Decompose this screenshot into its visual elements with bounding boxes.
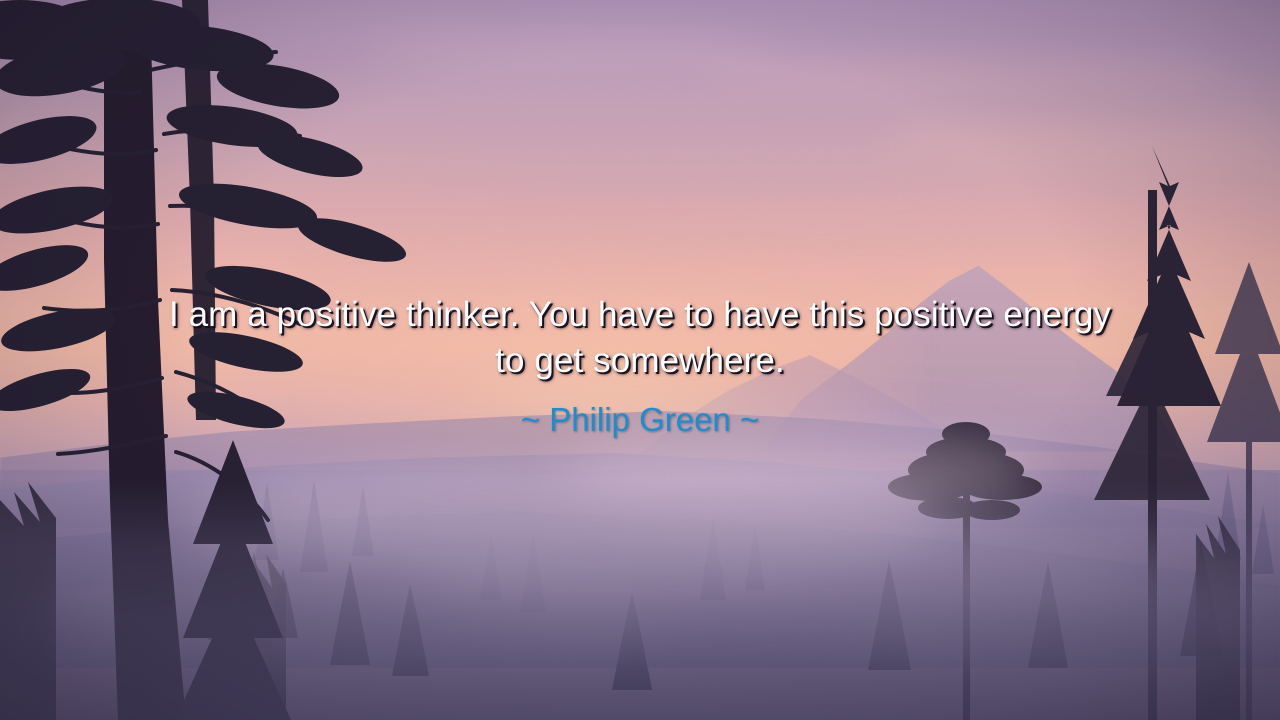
quote-block: I am a positive thinker. You have to hav… (0, 292, 1280, 440)
quote-line-1: I am a positive thinker. You have to hav… (60, 292, 1220, 338)
quote-author: ~ Philip Green ~ (60, 400, 1220, 440)
quote-image: I am a positive thinker. You have to hav… (0, 0, 1280, 720)
quote-line-2: to get somewhere. (60, 338, 1220, 384)
